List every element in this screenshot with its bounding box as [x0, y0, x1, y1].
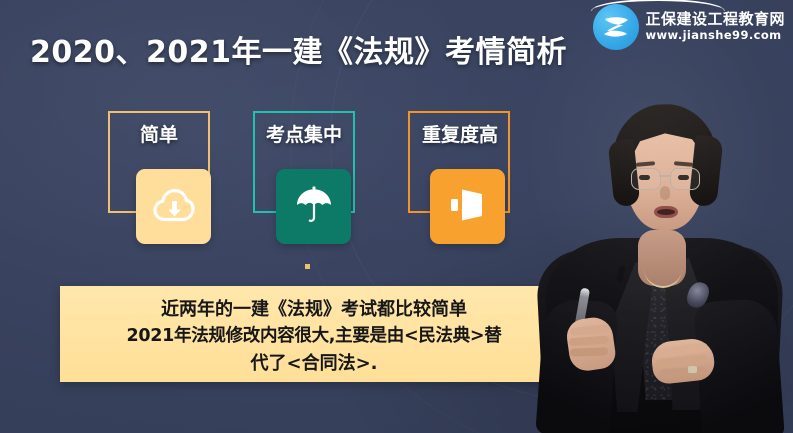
speaker-volume-icon	[447, 185, 489, 229]
brand-name-cn: 正保建设工程教育网	[645, 12, 785, 27]
feature-card-2-label: 考点集中	[224, 120, 384, 147]
slide-canvas: 正保建设工程教育网 www.jianshe99.com 2020、2021年一建…	[0, 0, 793, 433]
summary-note-box: 近两年的一建《法规》考试都比较简单 2021年法规修改内容很大,主要是由<民法典…	[60, 286, 760, 382]
slide-title: 2020、2021年一建《法规》考情简析	[30, 27, 567, 71]
feature-card-3-tile	[430, 169, 505, 244]
feature-card-1-tile	[136, 169, 211, 244]
summary-note-line-3: 代了<合同法>.	[60, 350, 568, 377]
feature-card-1-label: 简单	[79, 120, 239, 147]
feature-card-2-tile	[276, 169, 351, 244]
summary-note-text: 近两年的一建《法规》考试都比较简单 2021年法规修改内容很大,主要是由<民法典…	[60, 296, 568, 377]
summary-note-line-1: 近两年的一建《法规》考试都比较简单	[60, 296, 568, 323]
cloud-download-icon	[153, 188, 195, 226]
summary-note-line-2: 2021年法规修改内容很大,主要是由<民法典>替	[60, 323, 568, 350]
brand-logo: 正保建设工程教育网 www.jianshe99.com	[593, 4, 785, 50]
brand-logo-text: 正保建设工程教育网 www.jianshe99.com	[645, 12, 785, 42]
umbrella-icon	[294, 185, 334, 229]
z-swoosh-logo-icon	[593, 4, 639, 50]
accent-dot	[305, 264, 310, 269]
brand-url: www.jianshe99.com	[645, 30, 785, 42]
feature-card-3-label: 重复度高	[380, 120, 540, 147]
